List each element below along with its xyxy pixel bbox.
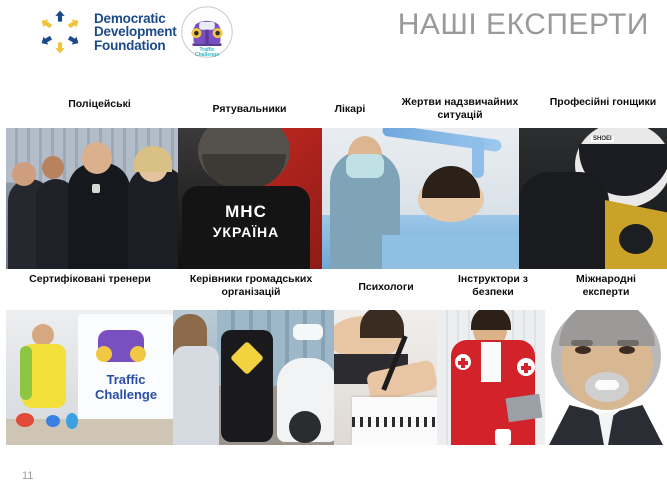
slide-header: Democratic Development Foundation Traffi… <box>0 0 667 70</box>
page-number: 11 <box>22 470 33 482</box>
photo-row-1: МНСУКРАЇНА SHOEI <box>0 128 667 269</box>
caption-professional-racers: Професійні гонщики <box>548 96 658 109</box>
traffic-challenge-car-logo-icon: Traffic Challenge <box>178 4 236 60</box>
photo-red-cross-instructor <box>437 310 545 445</box>
page-title: НАШІ ЕКСПЕРТИ <box>398 8 649 42</box>
photo-ngo-leader-car-seat <box>173 310 334 445</box>
photo-row-2: TrafficChallenge <box>0 310 667 445</box>
brand-name: Democratic Development Foundation <box>94 12 177 53</box>
photo-certified-trainer: TrafficChallenge <box>6 310 173 445</box>
caption-ngo-leaders: Керівники громадських організацій <box>168 273 334 299</box>
caption-international-experts: Міжнародні експерти <box>552 273 660 299</box>
photo-psychologist-notes <box>334 310 437 445</box>
ddf-hexagon-arrows-logo-icon <box>34 6 86 58</box>
brand-name-line3: Foundation <box>94 39 177 53</box>
partner-name-line2: Challenge <box>195 52 219 58</box>
caption-rescuers: Рятувальники <box>172 103 327 116</box>
caption-emergency-victims: Жертви надзвичайних ситуацій <box>385 96 535 122</box>
caption-policemen: Поліцейські <box>22 98 177 111</box>
photo-police-officers <box>6 128 178 269</box>
caption-safety-instructors: Інструктори з безпеки <box>441 273 545 299</box>
photo-rescuer-mns-ukraine: МНСУКРАЇНА <box>178 128 322 269</box>
brand-name-line2: Development <box>94 25 177 39</box>
brand-lockup: Democratic Development Foundation <box>34 6 177 58</box>
photo-motorcycle-racer: SHOEI <box>519 128 667 269</box>
photo-doctor-operating-room <box>322 128 519 269</box>
caption-certified-trainers: Сертифіковані тренери <box>12 273 168 286</box>
brand-name-line1: Democratic <box>94 12 177 26</box>
caption-psychologists: Психологи <box>336 281 436 294</box>
slide: Democratic Development Foundation Traffi… <box>0 0 667 500</box>
caption-doctors: Лікарі <box>310 103 390 116</box>
photo-international-expert <box>545 310 667 445</box>
